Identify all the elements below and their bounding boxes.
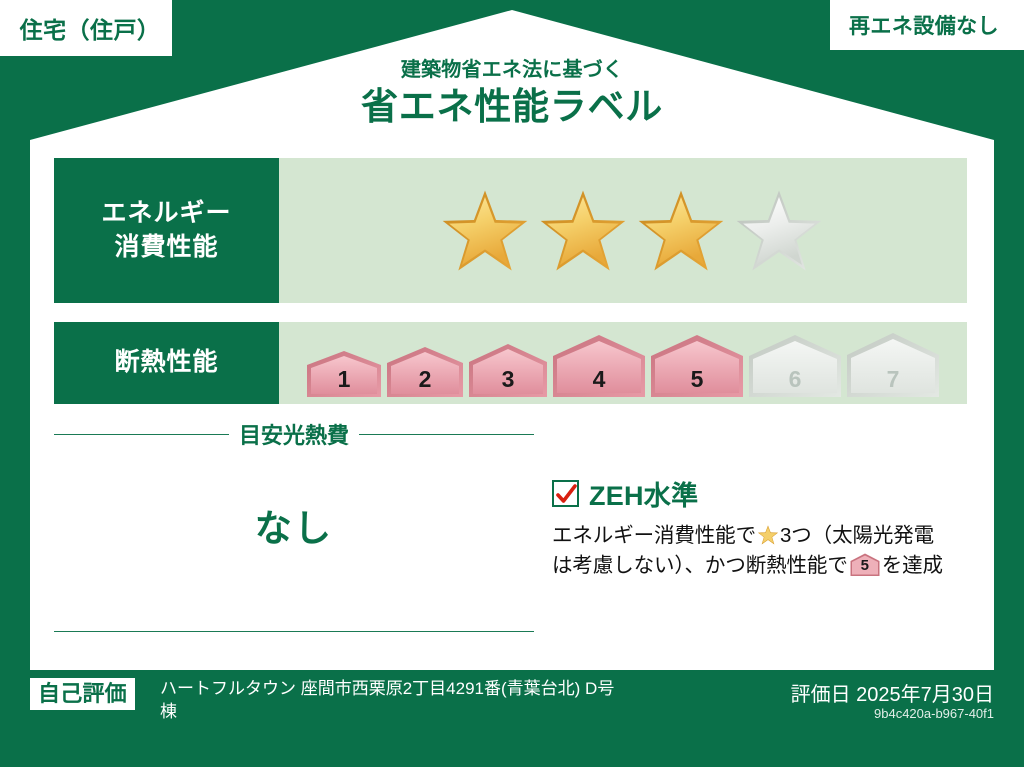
- energy-performance-row: エネルギー 消費性能: [54, 158, 967, 303]
- utility-cost-section: 目安光熱費 なし: [54, 418, 534, 552]
- star-icon-filled-1: [439, 185, 531, 277]
- building-type-badge: 住宅（住戸）: [0, 0, 172, 56]
- grade-house-icon-1: 1: [305, 349, 383, 399]
- star-icon-filled-2: [537, 185, 629, 277]
- renewable-energy-badge: 再エネ設備なし: [830, 0, 1024, 50]
- title-block: 建築物省エネ法に基づく 省エネ性能ラベル: [30, 58, 994, 130]
- zeh-description-part2: は考慮しない）、かつ断熱性能で: [552, 554, 848, 577]
- insulation-performance-label-text: 断熱性能: [114, 346, 218, 380]
- label-subtitle: 建築物省エネ法に基づく: [30, 58, 994, 82]
- page-title: 省エネ性能ラベル: [30, 84, 994, 130]
- star-icon-filled-3: [635, 185, 727, 277]
- grade-house-icon-2: 2: [385, 345, 465, 399]
- star-icon-inline: [757, 524, 779, 546]
- insulation-grade-scale: 1 2 3: [305, 327, 941, 399]
- zeh-title-row: ZEH水準: [552, 474, 982, 513]
- insulation-performance-row: 断熱性能: [54, 322, 967, 404]
- checkbox-checked-icon: [552, 480, 579, 507]
- grade-house-icon-3: 3: [467, 342, 549, 399]
- zeh-standard-block: ZEH水準 エネルギー消費性能で 3つ（太陽光発電 は考慮しない）、かつ断熱性能…: [552, 474, 982, 581]
- energy-performance-label: エネルギー 消費性能: [54, 158, 279, 303]
- energy-performance-panel: [279, 158, 967, 303]
- zeh-description: エネルギー消費性能で 3つ（太陽光発電 は考慮しない）、かつ断熱性能で 5 を達…: [552, 521, 982, 581]
- energy-performance-label-line2: 消費性能: [114, 231, 218, 265]
- insulation-performance-label: 断熱性能: [54, 322, 279, 404]
- zeh-title: ZEH水準: [589, 474, 698, 513]
- zeh-description-part1: エネルギー消費性能で: [552, 524, 756, 547]
- property-name: ハートフルタウン 座間市西栗原2丁目4291番(青葉台北) D号棟: [160, 678, 630, 724]
- energy-performance-label: 住宅（住戸） 再エネ設備なし 建築物省エネ法に基づく 省エネ性能ラベル エネルギ…: [0, 0, 1024, 767]
- evaluation-id: 9b4c420a-b967-40f1: [874, 706, 994, 721]
- building-type-badge-label: 住宅（住戸）: [20, 11, 161, 45]
- insulation-performance-panel: 1 2 3: [279, 322, 967, 404]
- zeh-description-part3: を達成: [882, 554, 943, 577]
- grade-house-icon-5: 5: [649, 333, 745, 399]
- footer: 自己評価 ハートフルタウン 座間市西栗原2丁目4291番(青葉台北) D号棟 評…: [0, 670, 1024, 767]
- utility-cost-heading-text: 目安光熱費: [239, 418, 349, 450]
- utility-cost-heading: 目安光熱費: [54, 418, 534, 450]
- renewable-energy-badge-label: 再エネ設備なし: [849, 10, 999, 40]
- evaluation-date: 評価日 2025年7月30日: [791, 678, 994, 707]
- grade-house-icon-4: 4: [551, 333, 647, 399]
- utility-cost-value: なし: [54, 498, 534, 552]
- utility-cost-bottom-divider: [54, 631, 534, 632]
- zeh-description-stars: 3つ（太陽光発電: [780, 524, 934, 547]
- heading-rule-left: [54, 434, 229, 435]
- star-rating: [439, 185, 825, 277]
- heading-rule-right: [359, 434, 534, 435]
- energy-performance-label-line1: エネルギー: [101, 197, 231, 231]
- grade-house-icon-6: 6: [747, 333, 843, 399]
- grade-house-inline-number: 5: [850, 555, 880, 577]
- grade-house-icon-7: 7: [845, 331, 941, 399]
- grade-house-icon-inline: 5: [850, 553, 880, 577]
- self-evaluation-badge: 自己評価: [30, 678, 135, 710]
- star-icon-empty-4: [733, 185, 825, 277]
